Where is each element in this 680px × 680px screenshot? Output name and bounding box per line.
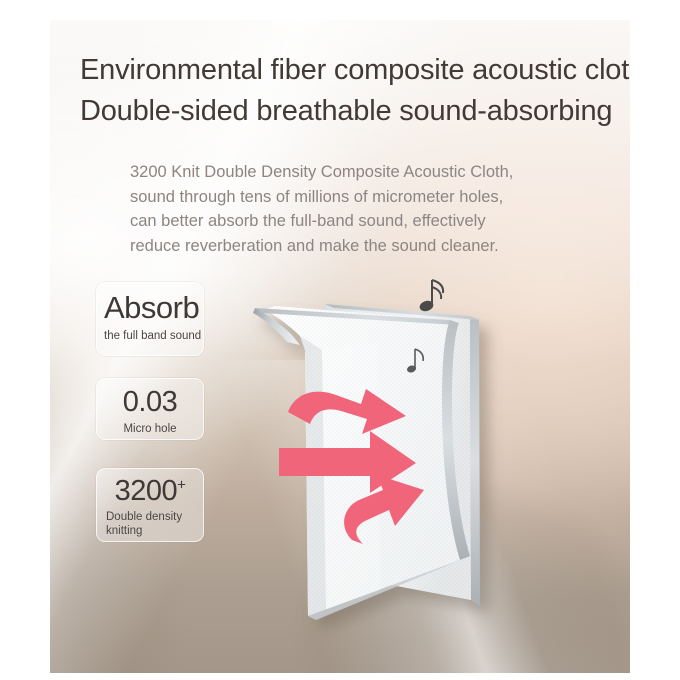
feature-card-suffix: + xyxy=(177,476,185,493)
feature-card-label: the full band sound xyxy=(104,330,196,344)
sixteenth-note-icon xyxy=(416,274,450,319)
eighth-note-icon xyxy=(405,345,427,380)
description-line-2: sound through tens of millions of microm… xyxy=(130,185,560,210)
feature-card-absorb: Absorb the full band sound xyxy=(96,282,204,356)
feature-card-value: 0.03 xyxy=(104,388,196,417)
banner-frame: Environmental fiber composite acoustic c… xyxy=(50,20,630,673)
feature-card-value-text: 3200 xyxy=(115,475,178,507)
product-banner: Environmental fiber composite acoustic c… xyxy=(0,0,680,680)
feature-card-double-density: 3200+ Double density knitting xyxy=(96,468,204,542)
headline-block: Environmental fiber composite acoustic c… xyxy=(80,50,620,132)
headline-line-1: Environmental fiber composite acoustic c… xyxy=(80,50,620,91)
description-line-4: reduce reverberation and make the sound … xyxy=(130,234,560,259)
feature-card-micro-hole: 0.03 Micro hole xyxy=(96,378,204,440)
feature-card-label: Double density knitting xyxy=(104,511,196,538)
feature-card-value-text: Absorb xyxy=(104,290,199,325)
feature-card-value: Absorb xyxy=(104,292,196,323)
description-block: 3200 Knit Double Density Composite Acous… xyxy=(130,160,560,258)
description-line-1: 3200 Knit Double Density Composite Acous… xyxy=(130,160,560,185)
description-line-3: can better absorb the full-band sound, e… xyxy=(130,209,560,234)
feature-card-value: 3200+ xyxy=(104,477,196,506)
headline-line-2: Double-sided breathable sound-absorbing xyxy=(80,91,620,132)
feature-card-value-text: 0.03 xyxy=(123,386,177,418)
cloth-sheets-group xyxy=(253,304,480,620)
feature-card-label: Micro hole xyxy=(104,423,196,437)
